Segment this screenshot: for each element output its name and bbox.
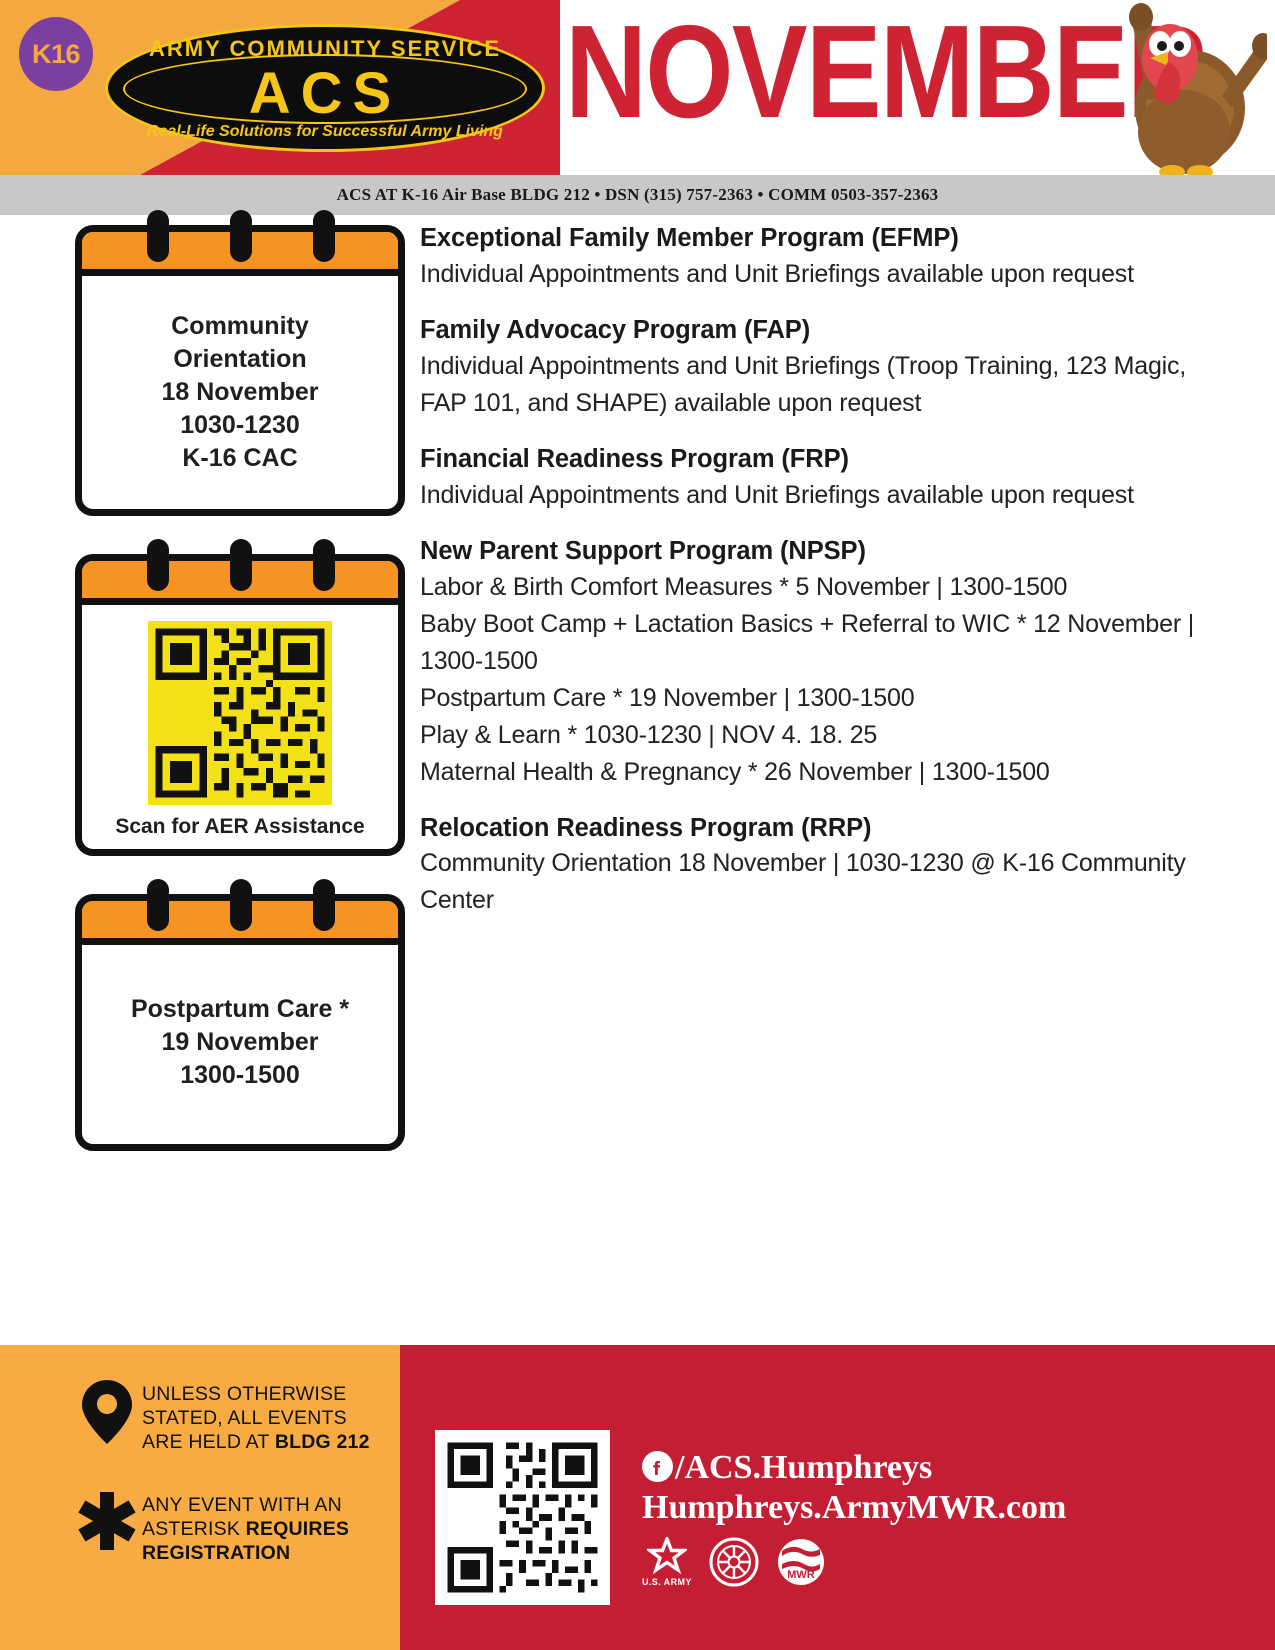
acs-logo-tagline: Real-Life Solutions for Successful Army … <box>105 123 545 141</box>
footer: UNLESS OTHERWISE STATED, ALL EVENTS ARE … <box>0 1345 1275 1650</box>
k16-badge: K16 <box>19 17 93 91</box>
program-title: Financial Readiness Program (FRP) <box>420 444 1210 476</box>
program-section-npsp: New Parent Support Program (NPSP) Labor … <box>420 536 1210 791</box>
program-title: Relocation Readiness Program (RRP) <box>420 813 1210 845</box>
us-army-label: U.S. ARMY <box>642 1577 692 1587</box>
program-title: Exceptional Family Member Program (EFMP) <box>420 223 1210 255</box>
calendar-line: Community <box>92 310 388 343</box>
facebook-link[interactable]: /ACS.Humphreys <box>642 1448 1066 1488</box>
footer-note-bold: BLDG 212 <box>275 1431 370 1453</box>
program-body: Individual Appointments and Unit Briefin… <box>420 256 1210 293</box>
main-content: Community Orientation 18 November 1030-1… <box>0 215 1275 1345</box>
aer-qr-block: Scan for AER Assistance <box>82 605 398 849</box>
calendar-box: Postpartum Care * 19 November 1300-1500 <box>75 894 405 1151</box>
acs-logo: ARMY COMMUNITY SERVICE ACS Real-Life Sol… <box>105 24 545 152</box>
website-link[interactable]: Humphreys.ArmyMWR.com <box>642 1488 1066 1528</box>
header-banner: K16 ARMY COMMUNITY SERVICE ACS Real-Life… <box>0 0 1275 175</box>
contact-line: ACS AT K-16 Air Base BLDG 212 • DSN (315… <box>337 185 939 205</box>
calendar-card: Community Orientation 18 November 1030-1… <box>75 225 405 516</box>
calendar-line: 19 November <box>92 1026 388 1059</box>
flyer-page: K16 ARMY COMMUNITY SERVICE ACS Real-Life… <box>0 0 1275 1650</box>
acs-logo-acronym: ACS <box>105 60 545 127</box>
acs-logo-top-text: ARMY COMMUNITY SERVICE <box>105 36 545 62</box>
calendar-card: Postpartum Care * 19 November 1300-1500 <box>75 894 405 1151</box>
acs-imcom-seal-logo <box>709 1537 759 1587</box>
calendar-line: Orientation <box>92 343 388 376</box>
calendar-ring <box>313 539 335 591</box>
program-body: Labor & Birth Comfort Measures * 5 Novem… <box>420 569 1210 791</box>
calendar-ring <box>147 879 169 931</box>
program-title: Family Advocacy Program (FAP) <box>420 315 1210 347</box>
program-body: Community Orientation 18 November | 1030… <box>420 845 1210 919</box>
footer-note-location: UNLESS OTHERWISE STATED, ALL EVENTS ARE … <box>72 1379 374 1454</box>
footer-social-links: /ACS.Humphreys Humphreys.ArmyMWR.com U.S… <box>642 1448 1066 1588</box>
calendar-rings <box>75 210 405 242</box>
footer-notes-panel: UNLESS OTHERWISE STATED, ALL EVENTS ARE … <box>0 1345 400 1650</box>
program-body: Individual Appointments and Unit Briefin… <box>420 348 1210 422</box>
program-section-frp: Financial Readiness Program (FRP) Indivi… <box>420 444 1210 514</box>
footer-qr-code[interactable] <box>441 1436 604 1599</box>
footer-note-registration: ANY EVENT WITH AN ASTERISK REQUIRES REGI… <box>72 1490 374 1565</box>
footer-note-text: ANY EVENT WITH AN ASTERISK REQUIRES REGI… <box>142 1490 374 1565</box>
program-title: New Parent Support Program (NPSP) <box>420 536 1210 568</box>
calendar-ring <box>230 210 252 262</box>
turkey-mascot-icon <box>1072 0 1267 175</box>
calendar-card-text: Postpartum Care * 19 November 1300-1500 <box>82 945 398 1144</box>
calendar-ring <box>313 879 335 931</box>
calendar-line: 1030-1230 <box>92 409 388 442</box>
footer-social-panel: /ACS.Humphreys Humphreys.ArmyMWR.com U.S… <box>400 1345 1275 1650</box>
us-army-star-logo: U.S. ARMY <box>642 1537 692 1587</box>
program-list: Exceptional Family Member Program (EFMP)… <box>420 223 1210 941</box>
calendar-line: Postpartum Care * <box>92 993 388 1026</box>
program-section-rrp: Relocation Readiness Program (RRP) Commu… <box>420 813 1210 920</box>
calendar-ring <box>147 539 169 591</box>
footer-note-text: UNLESS OTHERWISE STATED, ALL EVENTS ARE … <box>142 1379 374 1454</box>
army-mwr-globe-logo: MWR <box>776 1537 826 1587</box>
program-section-fap: Family Advocacy Program (FAP) Individual… <box>420 315 1210 422</box>
facebook-handle: /ACS.Humphreys <box>675 1449 932 1486</box>
aer-qr-caption: Scan for AER Assistance <box>115 815 364 839</box>
calendar-card-column: Community Orientation 18 November 1030-1… <box>75 225 405 1189</box>
calendar-ring <box>147 210 169 262</box>
calendar-card-qr: Scan for AER Assistance <box>75 554 405 856</box>
star-icon <box>647 1537 687 1575</box>
calendar-box: Community Orientation 18 November 1030-1… <box>75 225 405 516</box>
contact-bar: ACS AT K-16 Air Base BLDG 212 • DSN (315… <box>0 175 1275 215</box>
aer-qr-code[interactable] <box>148 621 332 805</box>
calendar-line: K-16 CAC <box>92 442 388 475</box>
calendar-ring <box>230 539 252 591</box>
agency-logo-row: U.S. ARMY MWR <box>642 1537 1066 1587</box>
calendar-box: Scan for AER Assistance <box>75 554 405 856</box>
program-section-efmp: Exceptional Family Member Program (EFMP)… <box>420 223 1210 293</box>
footer-qr-container[interactable] <box>435 1430 610 1605</box>
calendar-line: 1300-1500 <box>92 1059 388 1092</box>
calendar-rings <box>75 879 405 911</box>
program-body: Individual Appointments and Unit Briefin… <box>420 477 1210 514</box>
calendar-line: 18 November <box>92 376 388 409</box>
calendar-ring <box>313 210 335 262</box>
calendar-rings <box>75 539 405 571</box>
map-pin-icon <box>72 1379 142 1445</box>
k16-badge-label: K16 <box>32 39 80 70</box>
calendar-ring <box>230 879 252 931</box>
mwr-label: MWR <box>787 1569 815 1581</box>
facebook-icon <box>642 1451 673 1482</box>
calendar-card-text: Community Orientation 18 November 1030-1… <box>82 276 398 509</box>
asterisk-icon <box>72 1490 142 1552</box>
